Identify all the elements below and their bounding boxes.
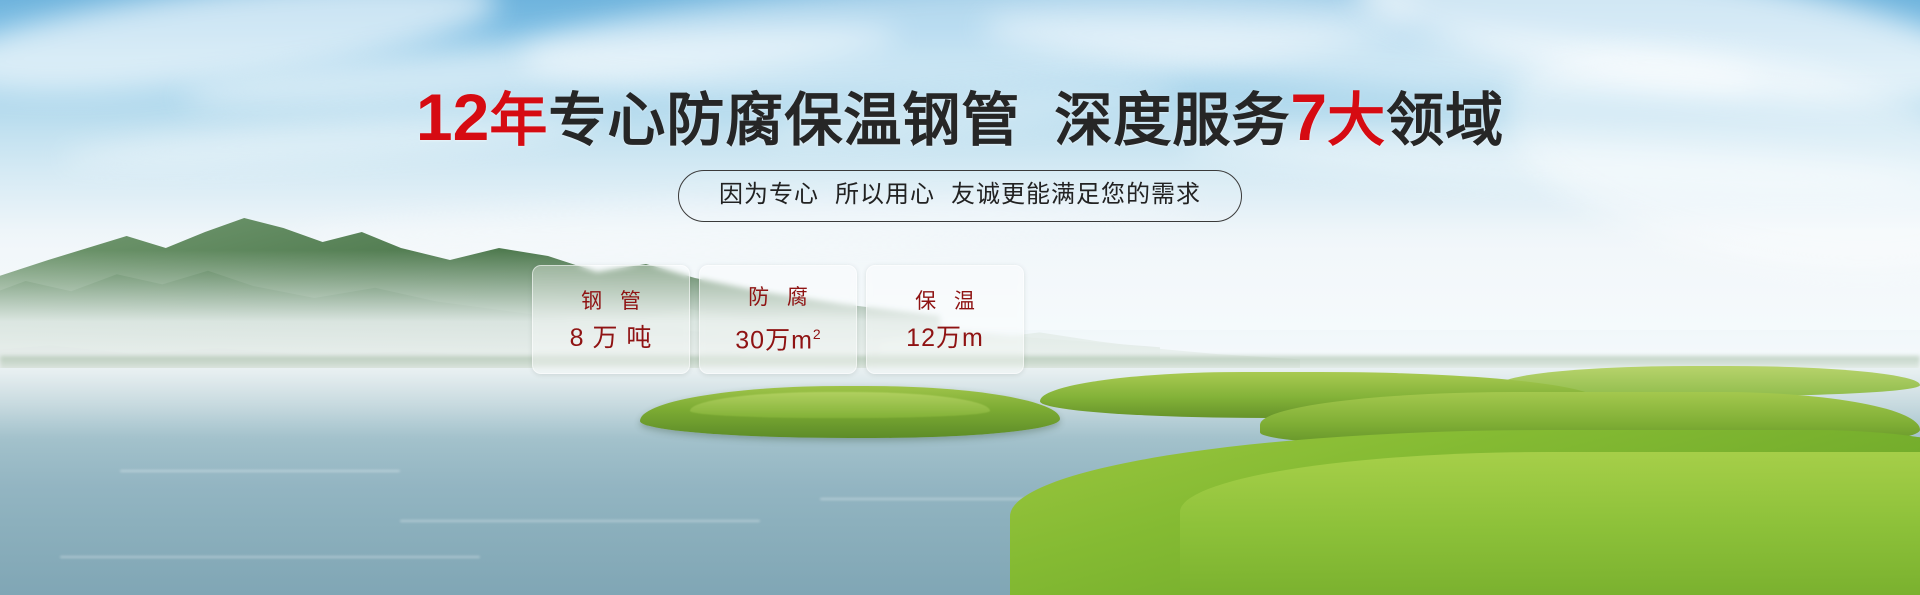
banner-headline: 12年专心防腐保温钢管深度服务7大领域 (0, 84, 1920, 154)
stat-card-value: 30万m2 (735, 319, 820, 355)
subtitle-part-1: 因为专心 (719, 181, 819, 208)
headline-fields-text: 领域 (1386, 88, 1504, 153)
stat-card-value-text: 30万m (735, 327, 813, 355)
stat-card-value-superscript: 2 (813, 326, 821, 342)
stat-card-value-text: 8 万 吨 (570, 324, 653, 352)
stat-card-group: 钢 管 8 万 吨 防 腐 30万m2 保 温 12万m (532, 265, 1024, 374)
headline-years-number: 12 (416, 80, 489, 154)
headline-years-unit: 年 (489, 88, 548, 153)
banner-content: 12年专心防腐保温钢管深度服务7大领域 因为专心所以用心友诚更能满足您的需求 钢… (0, 0, 1920, 595)
headline-main-text: 专心防腐保温钢管 (548, 88, 1020, 153)
subtitle-part-3: 友诚更能满足您的需求 (951, 181, 1201, 208)
stat-card-value: 12万m (906, 323, 984, 353)
stat-card-anticorrosion: 防 腐 30万m2 (699, 265, 857, 374)
headline-seven-unit: 大 (1327, 88, 1386, 153)
headline-service-text: 深度服务 (1054, 88, 1290, 153)
stat-card-label: 防 腐 (742, 283, 814, 313)
stat-card-label: 钢 管 (575, 287, 647, 317)
stat-card-steel-pipe: 钢 管 8 万 吨 (532, 265, 690, 374)
hero-banner: 12年专心防腐保温钢管深度服务7大领域 因为专心所以用心友诚更能满足您的需求 钢… (0, 0, 1920, 595)
banner-subtitle-pill: 因为专心所以用心友诚更能满足您的需求 (678, 170, 1242, 222)
stat-card-insulation: 保 温 12万m (866, 265, 1024, 374)
subtitle-part-2: 所以用心 (835, 181, 935, 208)
stat-card-value: 8 万 吨 (570, 323, 653, 353)
stat-card-value-text: 12万m (906, 324, 984, 352)
headline-seven-number: 7 (1290, 80, 1327, 154)
stat-card-label: 保 温 (909, 287, 981, 317)
